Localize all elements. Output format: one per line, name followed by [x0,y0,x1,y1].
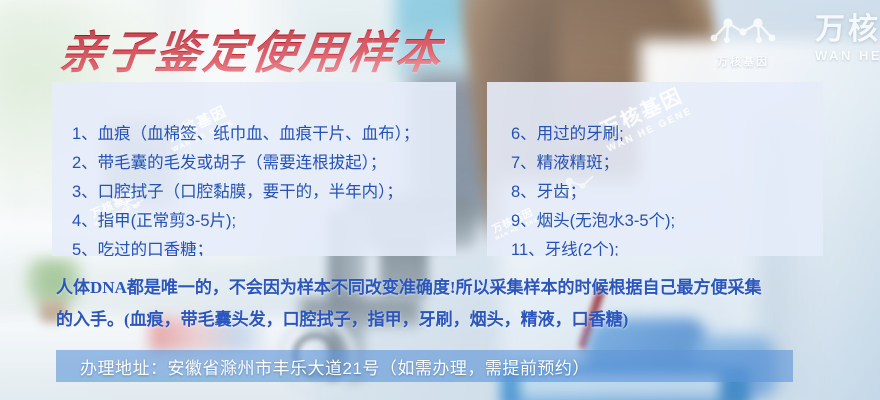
list-item: 4、指甲(正常剪3-5片); [72,207,456,236]
list-item: 1、血痕（血棉签、纸巾血、血痕干片、血布）； [72,120,456,149]
address-text: 办理地址：安徽省滁州市丰乐大道21号（如需办理，需提前预约） [56,354,590,379]
list-item: 7、精液精斑； [511,149,823,178]
sample-list-panel-left: 万核基因 WAN HE GENE 万核基因 WAN HE GENE [52,82,456,256]
list-item: 11、牙线(2个); [511,236,823,256]
list-item: 6、用过的牙刷; [511,120,823,149]
page-title: 亲子鉴定使用样本 [56,16,448,81]
poster-canvas: 万核基因 万核基 WAN HE GE 亲子鉴定使用样本 万核基因 WAN HE … [0,0,880,400]
brand-mark-label: 万核基因 [717,53,769,69]
sample-list-right: 6、用过的牙刷; 7、精液精斑； 8、牙齿； 9、烟头(无泡水3-5个); 11… [487,98,823,256]
brand-wordmark: 万核基 WAN HE GE [815,14,880,63]
explanatory-note: 人体DNA都是唯一的，不会因为样本不同改变准确度!所以采集样本的时候根据自己最方… [56,272,846,336]
list-item: 8、牙齿； [511,178,823,207]
molecule-icon [706,14,780,48]
list-item: 5、吃过的口香糖； [72,236,456,256]
list-item: 3、口腔拭子（口腔黏膜，要干的，半年内）； [72,178,456,207]
list-item: 9、烟头(无泡水3-5个); [511,207,823,236]
brand-wordmark-cn: 万核基 [815,14,880,46]
sample-list-panel-right: 万核基因 WAN HE GENE 万核基因 WAN HE GENE [487,82,823,256]
sample-list-left: 1、血痕（血棉签、纸巾血、血痕干片、血布）； 2、带毛囊的毛发或胡子（需要连根拔… [52,98,456,256]
brand-logo[interactable]: 万核基因 万核基 WAN HE GE [697,14,880,69]
brand-mark: 万核基因 [697,14,789,69]
list-item: 2、带毛囊的毛发或胡子（需要连根拔起）； [72,149,456,178]
address-bar: 办理地址：安徽省滁州市丰乐大道21号（如需办理，需提前预约） [56,350,793,382]
brand-wordmark-en: WAN HE GE [815,48,880,63]
note-line-1: 人体DNA都是唯一的，不会因为样本不同改变准确度!所以采集样本的时候根据自己最方… [56,272,846,304]
note-line-2: 的入手。(血痕，带毛囊头发，口腔拭子，指甲，牙刷，烟头，精液，口香糖) [56,304,846,336]
